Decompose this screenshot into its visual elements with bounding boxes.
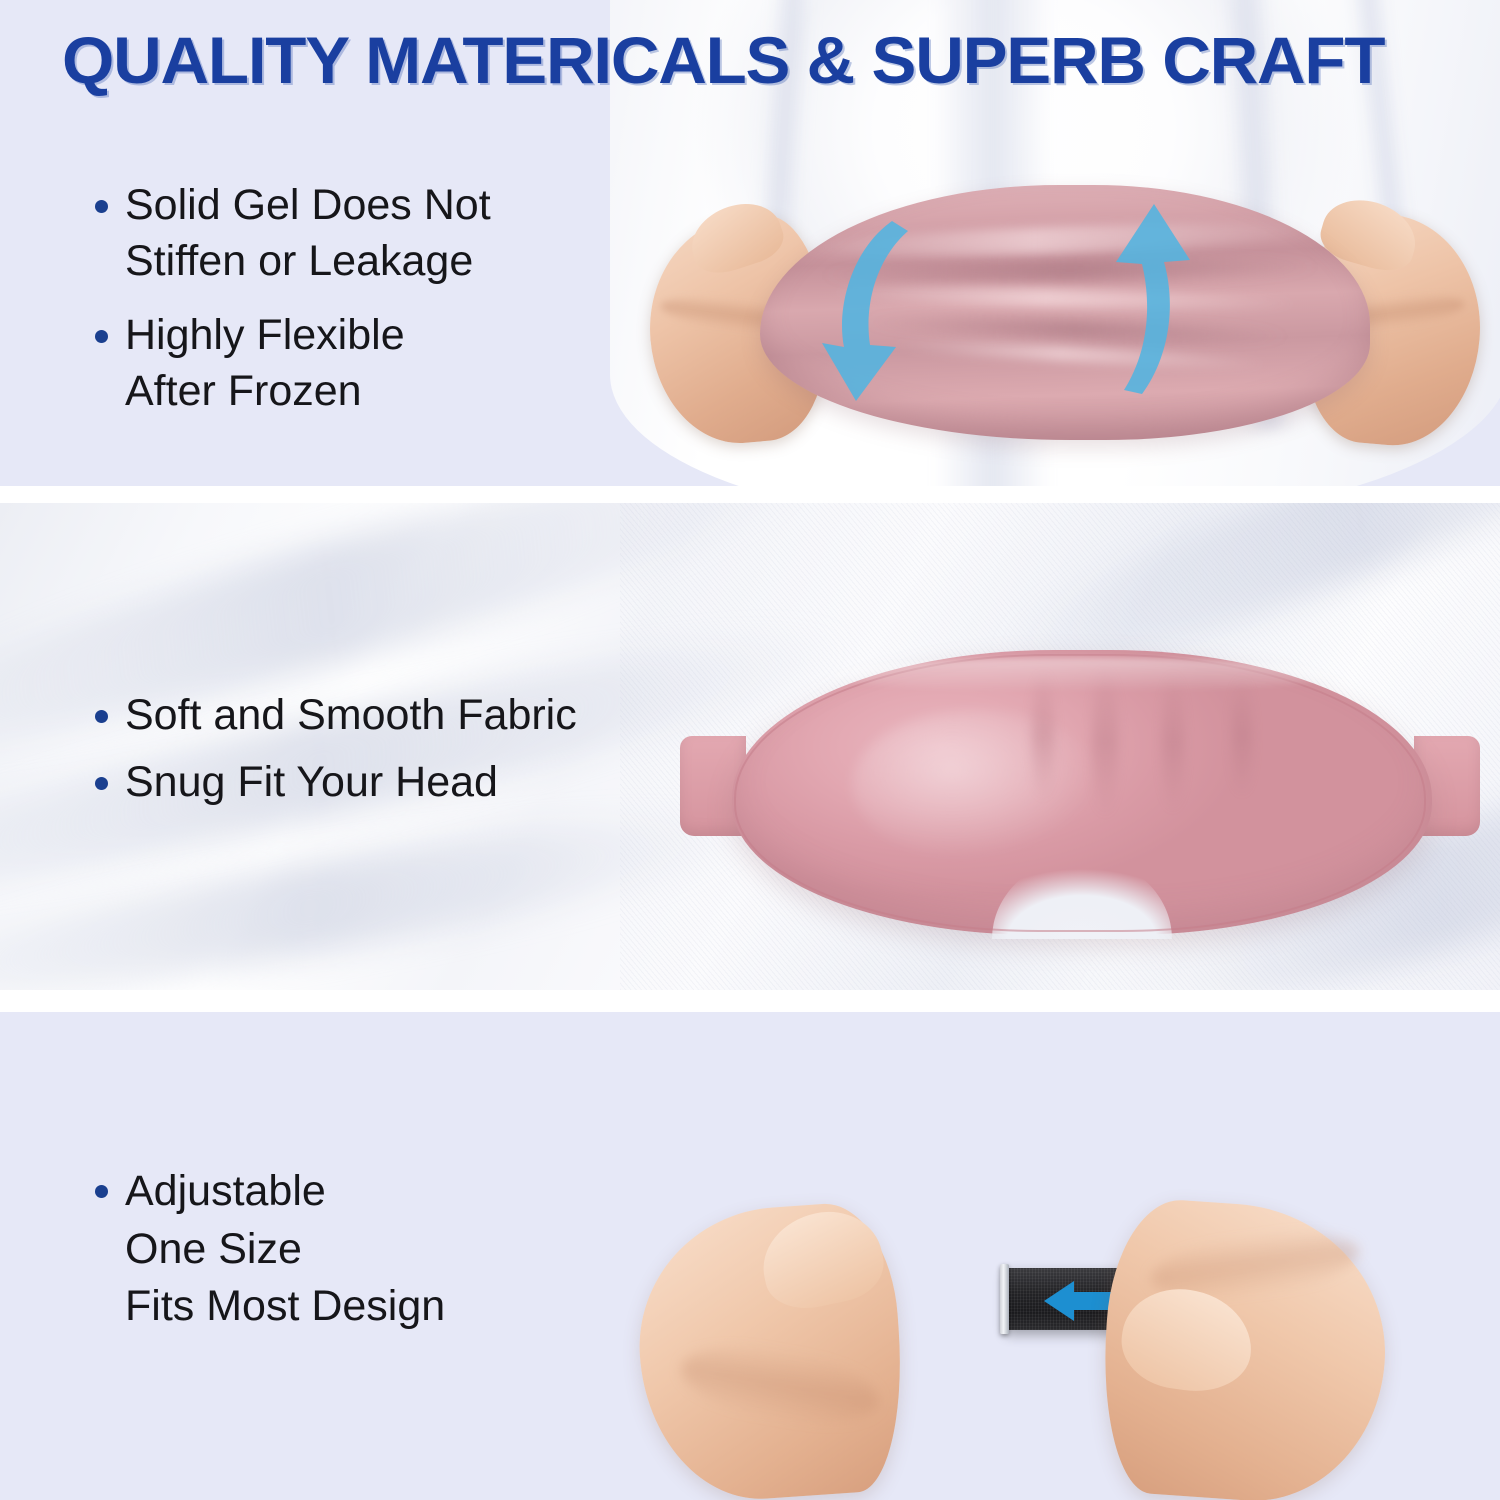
bullet-list-strap: Adjustable One Size Fits Most Design — [95, 1163, 445, 1336]
list-item: Highly Flexible After Frozen — [95, 308, 491, 420]
list-item: Adjustable One Size Fits Most Design — [95, 1163, 445, 1336]
satin-highlight — [800, 218, 1321, 262]
bullet-label: Highly Flexible After Frozen — [125, 308, 405, 420]
panel-separator — [0, 486, 1500, 504]
bullet-dot-icon — [95, 777, 108, 790]
strap-buckle-left — [1000, 1264, 1009, 1334]
bullet-list-gel: Solid Gel Does Not Stiffen or Leakage Hi… — [95, 178, 491, 420]
mask-seam-outline — [734, 654, 1426, 932]
bullet-dot-icon — [95, 1185, 108, 1198]
bullet-list-fabric: Soft and Smooth Fabric Snug Fit Your Hea… — [95, 688, 577, 811]
fabric-shadow — [860, 314, 1290, 345]
bullet-dot-icon — [95, 330, 108, 343]
sleep-mask-product — [680, 640, 1480, 940]
page-title: QUALITY MATERICALS & SUPERB CRAFT — [62, 22, 1384, 98]
panel-separator — [0, 990, 1500, 1008]
satin-highlight — [890, 337, 1270, 372]
bullet-label: Adjustable One Size Fits Most Design — [125, 1163, 445, 1336]
mask-top-seam — [830, 658, 1330, 692]
list-item: Solid Gel Does Not Stiffen or Leakage — [95, 178, 491, 290]
satin-highlight — [830, 283, 1300, 313]
bullet-dot-icon — [95, 710, 108, 723]
fabric-shadow — [820, 257, 1320, 286]
bullet-dot-icon — [95, 200, 108, 213]
list-item: Soft and Smooth Fabric — [95, 688, 577, 744]
bullet-label: Solid Gel Does Not Stiffen or Leakage — [125, 178, 491, 290]
bullet-label: Soft and Smooth Fabric — [125, 688, 577, 744]
panel-gel: QUALITY MATERICALS & SUPERB CRAFT Solid … — [0, 0, 1500, 486]
product-infographic: QUALITY MATERICALS & SUPERB CRAFT Solid … — [0, 0, 1500, 1500]
list-item: Snug Fit Your Head — [95, 755, 577, 811]
bullet-label: Snug Fit Your Head — [125, 755, 498, 811]
